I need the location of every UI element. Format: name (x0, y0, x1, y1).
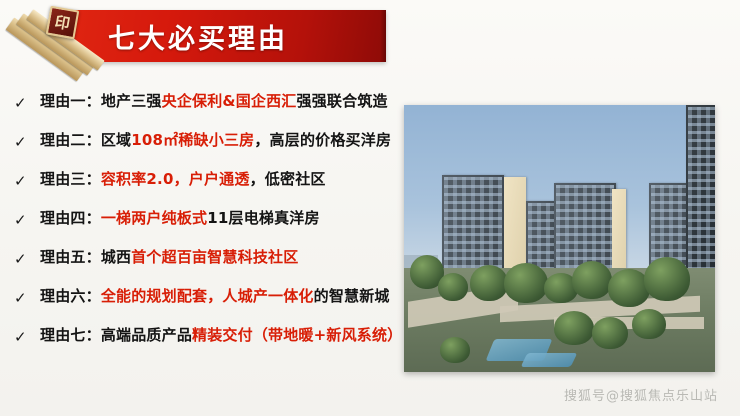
reason-segment-highlight: 央企保利&国企西汇 (162, 92, 297, 110)
tree (592, 317, 628, 349)
check-icon: ✓ (14, 131, 40, 152)
check-icon: ✓ (14, 326, 40, 347)
tree (644, 257, 690, 301)
check-icon: ✓ (14, 248, 40, 269)
slide-header: 七大必买理由 印 (0, 0, 740, 74)
reason-segment: ，高层的价格买洋房 (254, 131, 391, 149)
tree (554, 311, 594, 345)
reason-text: 理由五：城西首个超百亩智慧科技社区 (40, 248, 298, 267)
reason-label: 理由七： (40, 326, 101, 344)
check-icon: ✓ (14, 209, 40, 230)
reason-label: 理由三： (40, 170, 101, 188)
reason-text: 理由三：容积率2.0，户户通透，低密社区 (40, 170, 326, 189)
reason-text: 理由二：区域108㎡稀缺小三房，高层的价格买洋房 (40, 131, 391, 150)
reason-label: 理由二： (40, 131, 101, 149)
reason-segment-highlight: 108㎡稀缺小三房 (131, 131, 254, 149)
list-item: ✓ 理由二：区域108㎡稀缺小三房，高层的价格买洋房 (0, 131, 404, 170)
reason-segment-highlight: 一梯两户纯板式 (101, 209, 207, 227)
reason-segment: 11层电梯真洋房 (207, 209, 319, 227)
seal-glyph: 印 (48, 8, 77, 37)
list-item: ✓ 理由一：地产三强央企保利&国企西汇强强联合筑造 (0, 92, 404, 131)
list-item: ✓ 理由六：全能的规划配套，人城产一体化的智慧新城 (0, 287, 404, 326)
tree (504, 263, 548, 303)
reason-segment: 地产三强 (101, 92, 162, 110)
reason-segment: 城西 (101, 248, 131, 266)
reason-text: 理由四：一梯两户纯板式11层电梯真洋房 (40, 209, 320, 228)
gold-scroll-ornament: 印 (8, 2, 100, 72)
residential-complex-rendering (404, 105, 715, 372)
tree (440, 337, 470, 363)
watermark: 搜狐号@搜狐焦点乐山站 (564, 385, 718, 404)
reason-segment: 区域 (101, 131, 131, 149)
list-item: ✓ 理由七：高端品质产品精装交付（带地暖+新风系统） (0, 326, 404, 365)
reason-label: 理由一： (40, 92, 101, 110)
tree (470, 265, 508, 301)
check-icon: ✓ (14, 170, 40, 191)
seal-stamp-icon: 印 (46, 6, 80, 40)
reason-segment-highlight: 首个超百亩智慧科技社区 (131, 248, 298, 266)
reason-text: 理由七：高端品质产品精装交付（带地暖+新风系统） (40, 326, 402, 345)
reason-text: 理由一：地产三强央企保利&国企西汇强强联合筑造 (40, 92, 388, 111)
check-icon: ✓ (14, 287, 40, 308)
reason-label: 理由四： (40, 209, 101, 227)
reason-segment-highlight: 容积率2.0，户户通透 (101, 170, 250, 188)
tree (572, 261, 612, 299)
apartment-tower-near (686, 105, 715, 287)
reason-segment: ，低密社区 (250, 170, 326, 188)
check-icon: ✓ (14, 92, 40, 113)
reason-label: 理由六： (40, 287, 101, 305)
list-item: ✓ 理由四：一梯两户纯板式11层电梯真洋房 (0, 209, 404, 248)
reason-segment: 强强联合筑造 (297, 92, 388, 110)
water-feature (521, 353, 578, 367)
tree (632, 309, 666, 339)
title-banner: 七大必买理由 (60, 10, 386, 62)
reason-label: 理由五： (40, 248, 101, 266)
reason-text: 理由六：全能的规划配套，人城产一体化的智慧新城 (40, 287, 390, 306)
list-item: ✓ 理由五：城西首个超百亩智慧科技社区 (0, 248, 404, 287)
list-item: ✓ 理由三：容积率2.0，户户通透，低密社区 (0, 170, 404, 209)
tree (438, 273, 468, 301)
reason-segment-highlight: 精装交付（带地暖+新风系统） (192, 326, 402, 344)
reason-segment: 的智慧新城 (314, 287, 390, 305)
reason-segment-highlight: 全能的规划配套，人城产一体化 (101, 287, 314, 305)
reason-list: ✓ 理由一：地产三强央企保利&国企西汇强强联合筑造 ✓ 理由二：区域108㎡稀缺… (0, 92, 404, 365)
slide-canvas: 七大必买理由 印 ✓ 理由一：地产三强央企保利&国企西汇强强联合筑造 ✓ 理由二… (0, 0, 740, 416)
reason-segment: 高端品质产品 (101, 326, 192, 344)
